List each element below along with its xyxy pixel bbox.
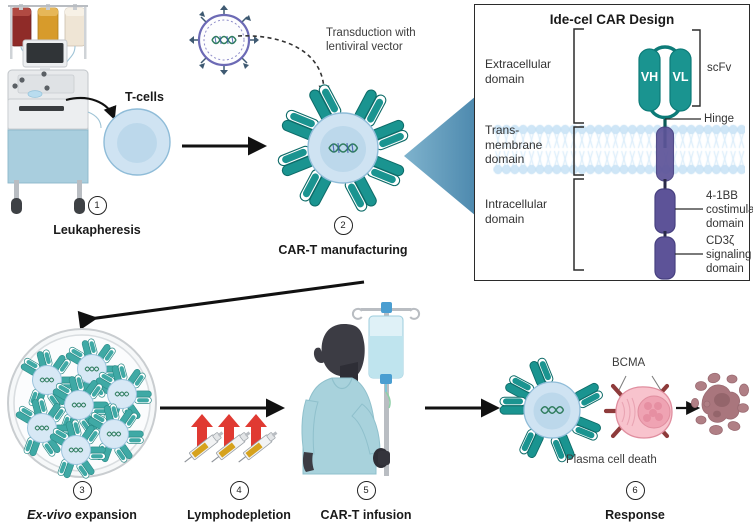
car-t-cell-manufacturing (279, 84, 407, 212)
hinge-leader-line (665, 118, 701, 120)
step-6: 6 Response (572, 481, 698, 522)
vl-text: VL (673, 70, 689, 84)
zoom-wedge (402, 96, 478, 216)
costim-leader-line (675, 208, 703, 210)
arrow-tcell-to-cart (182, 138, 277, 154)
tcell (101, 106, 173, 178)
step-4-number: 4 (230, 481, 249, 500)
transduction-line-2: lentiviral vector (326, 40, 416, 54)
step-3: 3 Ex-vivo expansion (16, 481, 148, 522)
cd3z-line-2: signaling (706, 248, 751, 262)
apoptotic-debris (692, 370, 750, 436)
transmembrane-line-1: Trans- (485, 123, 571, 138)
tcells-label: T-cells (125, 90, 164, 104)
cd3z-domain-label: CD3ζ signaling domain (706, 234, 751, 276)
extracellular-line-2: domain (485, 72, 571, 87)
step-3-number: 3 (73, 481, 92, 500)
expansion-petri-dish (6, 327, 158, 479)
step-2-label: CAR-T manufacturing (275, 243, 411, 257)
transmembrane-domain-label: Trans- membrane domain (485, 123, 571, 167)
car-t-cell-response (500, 358, 604, 462)
step-3-label: Ex-vivo expansion (16, 508, 148, 522)
car-design-inset-panel: Ide-cel CAR Design VH VL (474, 4, 750, 281)
extracellular-line-1: Extracellular (485, 57, 571, 72)
costim-line-1: 4-1BB (706, 189, 753, 203)
step-1-number: 1 (88, 196, 107, 215)
costim-line-2: costimulatory (706, 203, 753, 217)
step-5-number: 5 (357, 481, 376, 500)
lymphodepletion-icons (183, 413, 295, 475)
blood-bag-cream (65, 4, 85, 46)
tcells-label-text: T-cells (125, 90, 164, 104)
plasma-cell-death-text: Plasma cell death (566, 453, 657, 467)
domain-brackets (570, 27, 592, 272)
step-1-label: Leukapheresis (36, 223, 158, 237)
cd3z-line-3: domain (706, 262, 751, 276)
scfv-bracket (691, 29, 703, 107)
scfv-label: scFv (707, 61, 731, 75)
plasma-cell (592, 366, 688, 448)
transduction-label: Transduction with lentiviral vector (326, 26, 416, 55)
step-6-number: 6 (626, 481, 645, 500)
costim-domain-label: 4-1BB costimulatory domain (706, 189, 753, 231)
intracellular-line-1: Intracellular (485, 197, 571, 212)
step-3-label-italic: Ex-vivo (27, 508, 71, 522)
step-2: 2 CAR-T manufacturing (275, 216, 411, 257)
extracellular-domain-label: Extracellular domain (485, 57, 571, 86)
step-5: 5 CAR-T infusion (305, 481, 427, 522)
transduction-line-1: Transduction with (326, 26, 416, 40)
step-2-number: 2 (334, 216, 353, 235)
intracellular-line-2: domain (485, 212, 571, 227)
intracellular-domain-label: Intracellular domain (485, 197, 571, 226)
plasma-cell-death-label: Plasma cell death (566, 453, 657, 467)
transmembrane-line-3: domain (485, 152, 571, 167)
step-4-label: Lymphodepletion (176, 508, 302, 522)
step-6-label: Response (572, 508, 698, 522)
arrow-patient-to-response (425, 400, 510, 416)
step-4: 4 Lymphodepletion (176, 481, 302, 522)
patient-with-iv (300, 296, 440, 480)
step-1: 1 Leukapheresis (36, 196, 158, 237)
transmembrane-line-2: membrane (485, 138, 571, 153)
step-5-label: CAR-T infusion (305, 508, 427, 522)
cd3z-line-1: CD3ζ (706, 234, 751, 248)
costim-line-3: domain (706, 217, 753, 231)
step-3-label-rest: expansion (72, 508, 137, 522)
hinge-label: Hinge (704, 112, 734, 126)
vh-text: VH (641, 70, 658, 84)
cd3z-leader-line (675, 253, 703, 255)
